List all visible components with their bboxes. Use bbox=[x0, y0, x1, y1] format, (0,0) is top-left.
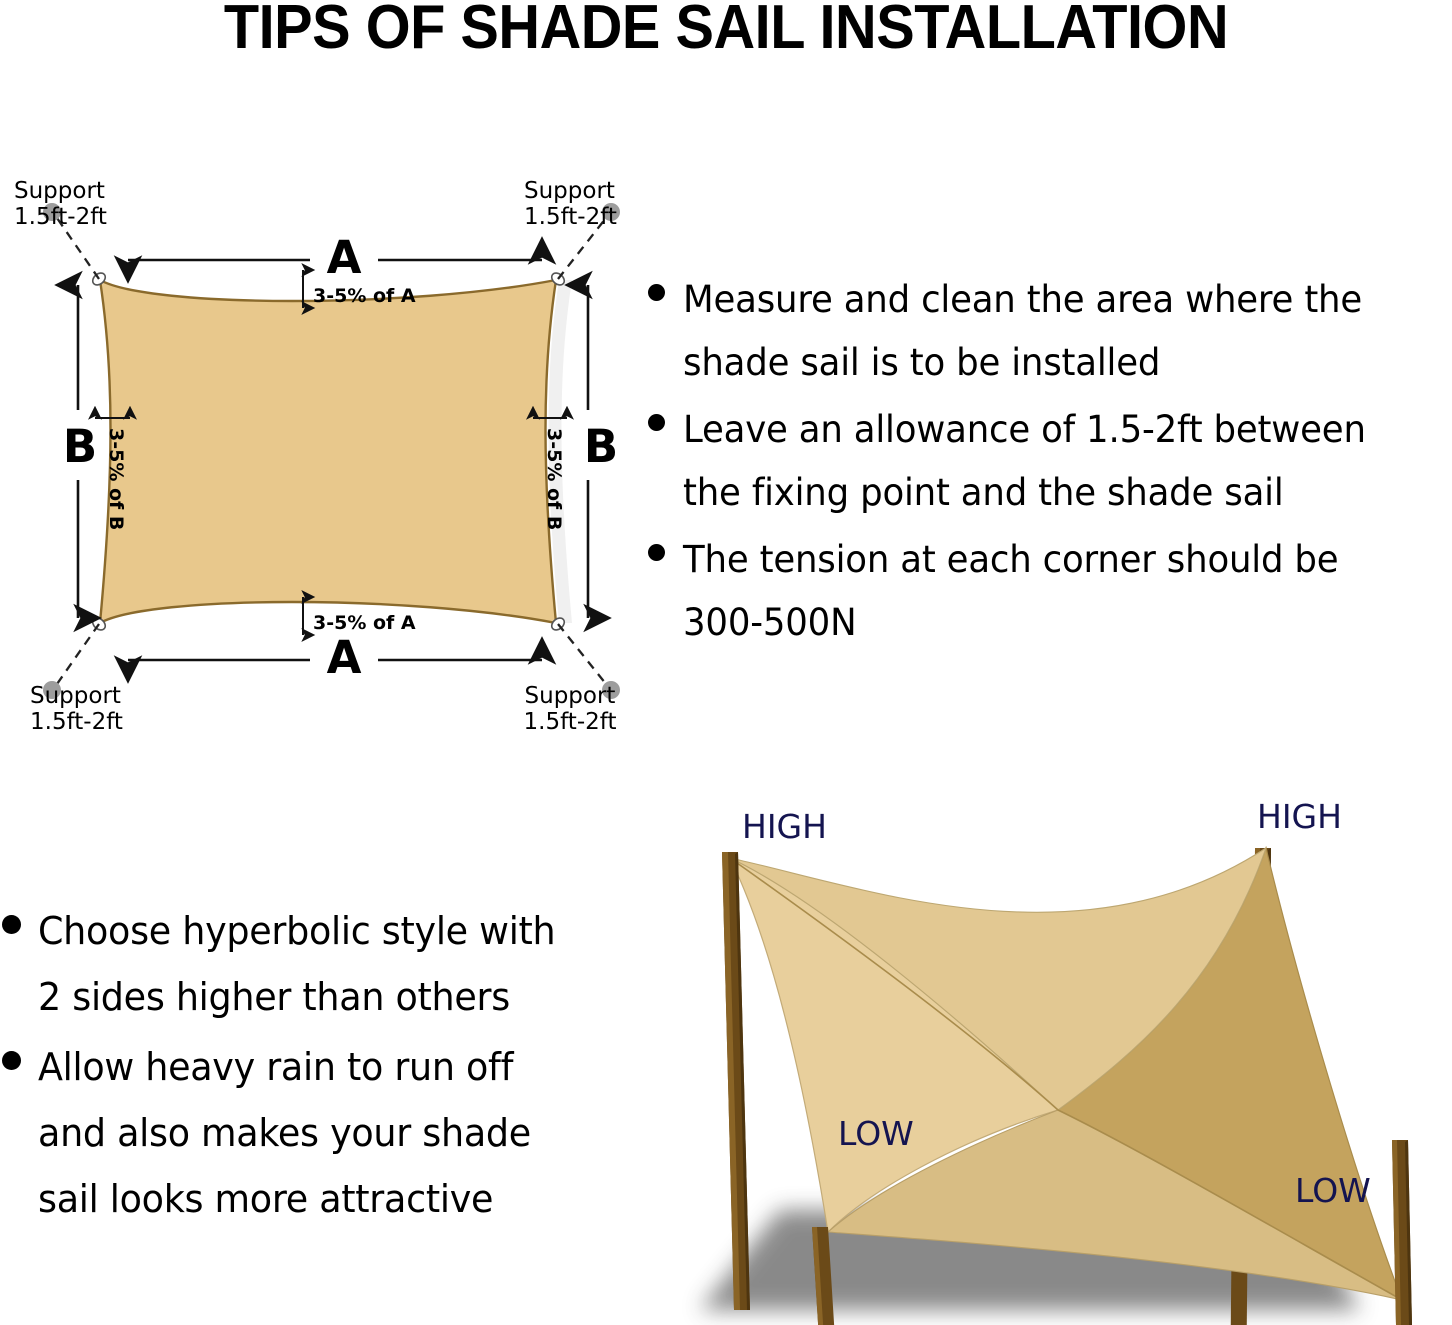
bullet-dot-icon bbox=[2, 915, 21, 934]
curve-allowance-label-top: 3-5% of A bbox=[313, 285, 416, 307]
installation-tips-list: Measure and clean the area where the sha… bbox=[648, 268, 1452, 658]
support-lead-bottom-right bbox=[558, 624, 606, 684]
hyperbolic-sail-illustration: HIGH HIGH LOW LOW bbox=[660, 790, 1452, 1325]
support-label-top-left-line2: 1.5ft-2ft bbox=[14, 204, 107, 230]
page-title: TIPS OF SHADE SAIL INSTALLATION bbox=[51, 0, 1401, 62]
bullet-dot-icon bbox=[648, 544, 665, 561]
dimension-label-b-left: B bbox=[63, 420, 97, 473]
support-label-bottom-right-line2: 1.5ft-2ft bbox=[524, 709, 617, 735]
curve-allowance-label-left: 3-5% of B bbox=[105, 428, 127, 530]
curve-allowance-label-bottom: 3-5% of A bbox=[313, 612, 416, 634]
post-high-left bbox=[722, 852, 750, 1310]
style-tip-text: Choose hyperbolic style with 2 sides hig… bbox=[38, 898, 555, 1030]
support-label-bottom-right-line1: Support bbox=[525, 683, 616, 709]
bullet-dot-icon bbox=[648, 284, 665, 301]
dimension-label-b-right: B bbox=[584, 420, 618, 473]
list-item: Allow heavy rain to run off and also mak… bbox=[2, 1034, 632, 1232]
list-item: Leave an allowance of 1.5-2ft between th… bbox=[648, 398, 1452, 524]
support-lead-bottom-left bbox=[57, 624, 99, 684]
shade-sail-dimension-diagram: A A B B 3-5% of A 3-5% of A 3-5% of B 3-… bbox=[0, 160, 660, 740]
label-high-right: HIGH bbox=[1257, 797, 1342, 836]
tip-text: Leave an allowance of 1.5-2ft between th… bbox=[683, 398, 1366, 524]
curve-allowance-label-right: 3-5% of B bbox=[543, 428, 565, 530]
tip-text: The tension at each corner should be 300… bbox=[683, 528, 1338, 654]
label-low-right: LOW bbox=[1295, 1171, 1371, 1210]
bullet-dot-icon bbox=[648, 414, 665, 431]
dimension-label-a-top: A bbox=[327, 231, 362, 284]
list-item: The tension at each corner should be 300… bbox=[648, 528, 1452, 654]
support-label-top-left-line1: Support bbox=[14, 178, 105, 204]
bullet-dot-icon bbox=[2, 1051, 21, 1070]
hyperbolic-style-tips-list: Choose hyperbolic style with 2 sides hig… bbox=[2, 898, 632, 1236]
support-label-bottom-left-line1: Support bbox=[30, 683, 121, 709]
list-item: Measure and clean the area where the sha… bbox=[648, 268, 1452, 394]
style-tip-text: Allow heavy rain to run off and also mak… bbox=[38, 1034, 531, 1232]
tip-text: Measure and clean the area where the sha… bbox=[683, 268, 1362, 394]
list-item: Choose hyperbolic style with 2 sides hig… bbox=[2, 898, 632, 1030]
label-high-left: HIGH bbox=[742, 807, 827, 846]
support-label-bottom-left-line2: 1.5ft-2ft bbox=[30, 709, 123, 735]
dimension-label-a-bottom: A bbox=[327, 631, 362, 684]
shade-sail-shape bbox=[100, 280, 556, 623]
support-label-top-right-line2: 1.5ft-2ft bbox=[524, 204, 617, 230]
support-label-top-right-line1: Support bbox=[524, 178, 615, 204]
label-low-left: LOW bbox=[838, 1114, 914, 1153]
